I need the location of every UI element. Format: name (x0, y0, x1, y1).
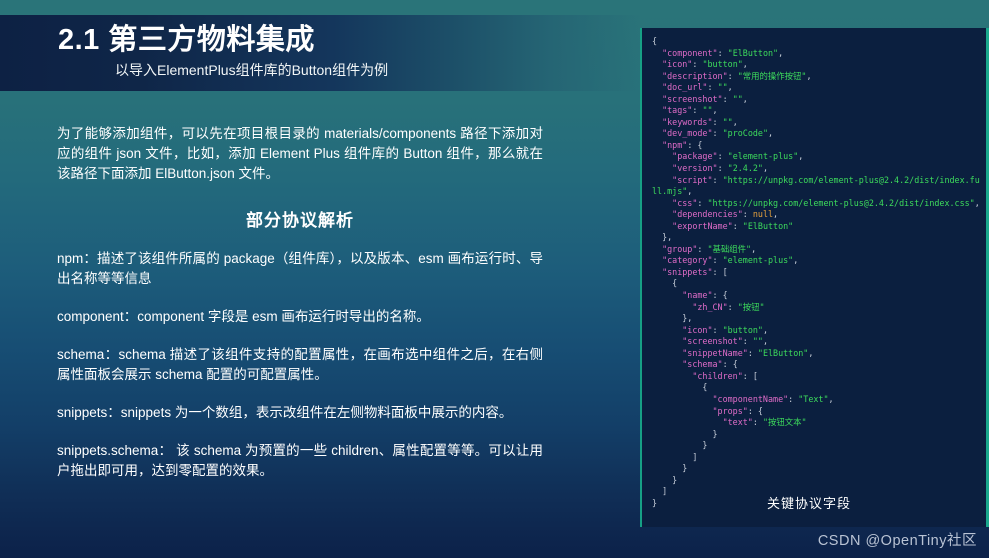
code-token: "ElButton" (728, 48, 778, 58)
code-token: "element-plus" (723, 255, 794, 265)
code-token: "props" (713, 406, 748, 416)
code-token: } (652, 440, 707, 450)
code-token: "component" (662, 48, 717, 58)
code-token: : (753, 417, 763, 427)
code-token: : { (687, 140, 702, 150)
code-token (652, 221, 672, 231)
code-token: "element-plus" (728, 151, 799, 161)
code-token: : (713, 255, 723, 265)
code-token: : (718, 151, 728, 161)
paragraph-npm: npm：描述了该组件所属的 package（组件库），以及版本、esm 画布运行… (57, 249, 543, 289)
code-token: } (652, 498, 657, 508)
code-token: "" (753, 336, 763, 346)
code-token: "screenshot" (682, 336, 743, 346)
code-token: "children" (692, 371, 742, 381)
code-panel-caption: 关键协议字段 (767, 493, 851, 512)
code-token: , (806, 71, 811, 81)
code-token: "" (733, 94, 743, 104)
code-token: , (763, 336, 768, 346)
code-token: }, (652, 232, 672, 242)
code-token (652, 290, 682, 300)
code-token (652, 59, 662, 69)
code-token: { (652, 382, 707, 392)
code-token: : [ (713, 267, 728, 277)
code-token: "schema" (682, 359, 722, 369)
code-token (652, 209, 672, 219)
code-token (652, 71, 662, 81)
code-token (652, 117, 662, 127)
code-token: "doc_url" (662, 82, 707, 92)
code-token: : (788, 394, 798, 404)
code-token: "snippets" (662, 267, 712, 277)
code-token: "2.4.2" (728, 163, 763, 173)
intro-paragraph: 为了能够添加组件，可以先在项目根目录的 materials/components… (57, 124, 543, 184)
code-token: : { (723, 359, 738, 369)
code-token: "常用的操作按钮" (738, 71, 807, 81)
code-token: , (763, 163, 768, 173)
code-token: "dev_mode" (662, 128, 712, 138)
code-token (652, 48, 662, 58)
page-subtitle: 以导入ElementPlus组件库的Button组件为例 (115, 60, 388, 80)
code-token: , (793, 255, 798, 265)
code-token: , (728, 82, 733, 92)
section-heading: 部分协议解析 (57, 206, 543, 231)
code-token: , (975, 198, 980, 208)
code-token (652, 359, 682, 369)
code-token: : (713, 175, 723, 185)
code-token (652, 198, 672, 208)
code-token: "description" (662, 71, 728, 81)
code-token: "ElButton" (743, 221, 793, 231)
code-token: "version" (672, 163, 717, 173)
code-token: ] (652, 452, 697, 462)
page-title: 2.1 第三方物料集成 (58, 16, 315, 58)
code-token: "npm" (662, 140, 687, 150)
code-token: "基础组件" (707, 244, 751, 254)
code-token: "zh_CN" (692, 302, 727, 312)
code-token: "tags" (662, 105, 692, 115)
code-token: "" (702, 105, 712, 115)
code-token (652, 325, 682, 335)
code-token: , (773, 209, 778, 219)
code-token: "group" (662, 244, 697, 254)
code-token: : (718, 48, 728, 58)
code-token: : (743, 209, 753, 219)
code-token: }, (652, 313, 692, 323)
paragraph-schema: schema：schema 描述了该组件支持的配置属性，在画布选中组件之后，在右… (57, 345, 543, 385)
code-token: : { (748, 406, 763, 416)
code-token: } (652, 429, 718, 439)
code-token: } (652, 463, 687, 473)
code-token: "icon" (682, 325, 712, 335)
code-token: : (723, 94, 733, 104)
code-token: , (743, 59, 748, 69)
code-token: : (707, 82, 717, 92)
code-token (652, 151, 672, 161)
code-token: , (778, 48, 783, 58)
code-token (652, 255, 662, 265)
code-token: "script" (672, 175, 712, 185)
code-token: : (697, 244, 707, 254)
code-token: : (733, 221, 743, 231)
code-token (652, 267, 662, 277)
code-token: : (743, 336, 753, 346)
code-token: "按钮文本" (763, 417, 807, 427)
code-token: , (768, 128, 773, 138)
code-token (652, 394, 713, 404)
code-token: : (692, 105, 702, 115)
code-token: , (733, 117, 738, 127)
code-token: "" (723, 117, 733, 127)
code-token: : (728, 71, 738, 81)
code-token: "exportName" (672, 221, 733, 231)
code-token (652, 406, 713, 416)
json-code-block: { "component": "ElButton", "icon": "butt… (642, 28, 989, 513)
code-token: : (692, 59, 702, 69)
code-token (652, 302, 692, 312)
paragraph-component: component：component 字段是 esm 画布运行时导出的名称。 (57, 307, 543, 327)
code-token: , (763, 325, 768, 335)
code-token: "button" (702, 59, 742, 69)
code-token (652, 94, 662, 104)
code-token: , (687, 186, 692, 196)
code-token: } (652, 475, 677, 485)
code-token: "componentName" (713, 394, 789, 404)
code-token (652, 336, 682, 346)
code-token (652, 371, 692, 381)
code-token: "screenshot" (662, 94, 723, 104)
code-token: : (748, 348, 758, 358)
code-token: "proCode" (723, 128, 768, 138)
code-token: : (713, 325, 723, 335)
code-token: "snippetName" (682, 348, 748, 358)
code-token (652, 163, 672, 173)
code-token: , (808, 348, 813, 358)
code-token: "dependencies" (672, 209, 743, 219)
code-token: "https://unpkg.com/element-plus@2.4.2/di… (707, 198, 974, 208)
content-column: 为了能够添加组件，可以先在项目根目录的 materials/components… (57, 124, 543, 499)
code-token (652, 244, 662, 254)
code-token: : (713, 128, 723, 138)
paragraph-snippets: snippets：snippets 为一个数组，表示改组件在左侧物料面板中展示的… (57, 403, 543, 423)
code-token: , (743, 94, 748, 104)
code-token: { (652, 278, 677, 288)
code-token: "css" (672, 198, 697, 208)
code-token: "按钮" (738, 302, 765, 312)
code-token: , (713, 105, 718, 115)
code-token: : (718, 163, 728, 173)
paragraph-snippets-schema: snippets.schema： 该 schema 为预置的一些 childre… (57, 441, 543, 481)
code-token: "keywords" (662, 117, 712, 127)
code-token: null (753, 209, 773, 219)
code-token: , (798, 151, 803, 161)
code-token (652, 140, 662, 150)
code-token (652, 82, 662, 92)
code-token: "name" (682, 290, 712, 300)
code-token (652, 417, 723, 427)
code-token: { (652, 36, 657, 46)
code-token: , (829, 394, 834, 404)
code-token: ] (652, 486, 667, 496)
code-token: : (697, 198, 707, 208)
code-token: "text" (723, 417, 753, 427)
code-token: "Text" (798, 394, 828, 404)
code-token: "icon" (662, 59, 692, 69)
code-token (652, 175, 672, 185)
slide-root: 2.1 第三方物料集成 以导入ElementPlus组件库的Button组件为例… (0, 0, 989, 558)
code-token: : [ (743, 371, 758, 381)
code-panel: { "component": "ElButton", "icon": "butt… (640, 28, 989, 527)
code-token: "" (718, 82, 728, 92)
code-token: , (751, 244, 756, 254)
code-token (652, 128, 662, 138)
code-token: "category" (662, 255, 712, 265)
code-token: "button" (723, 325, 763, 335)
watermark: CSDN @OpenTiny社区 (818, 529, 977, 550)
code-token: : (713, 117, 723, 127)
code-token: : (728, 302, 738, 312)
code-token (652, 348, 682, 358)
code-token: "package" (672, 151, 717, 161)
code-token: "ElButton" (758, 348, 808, 358)
code-token: : { (713, 290, 728, 300)
code-token (652, 105, 662, 115)
